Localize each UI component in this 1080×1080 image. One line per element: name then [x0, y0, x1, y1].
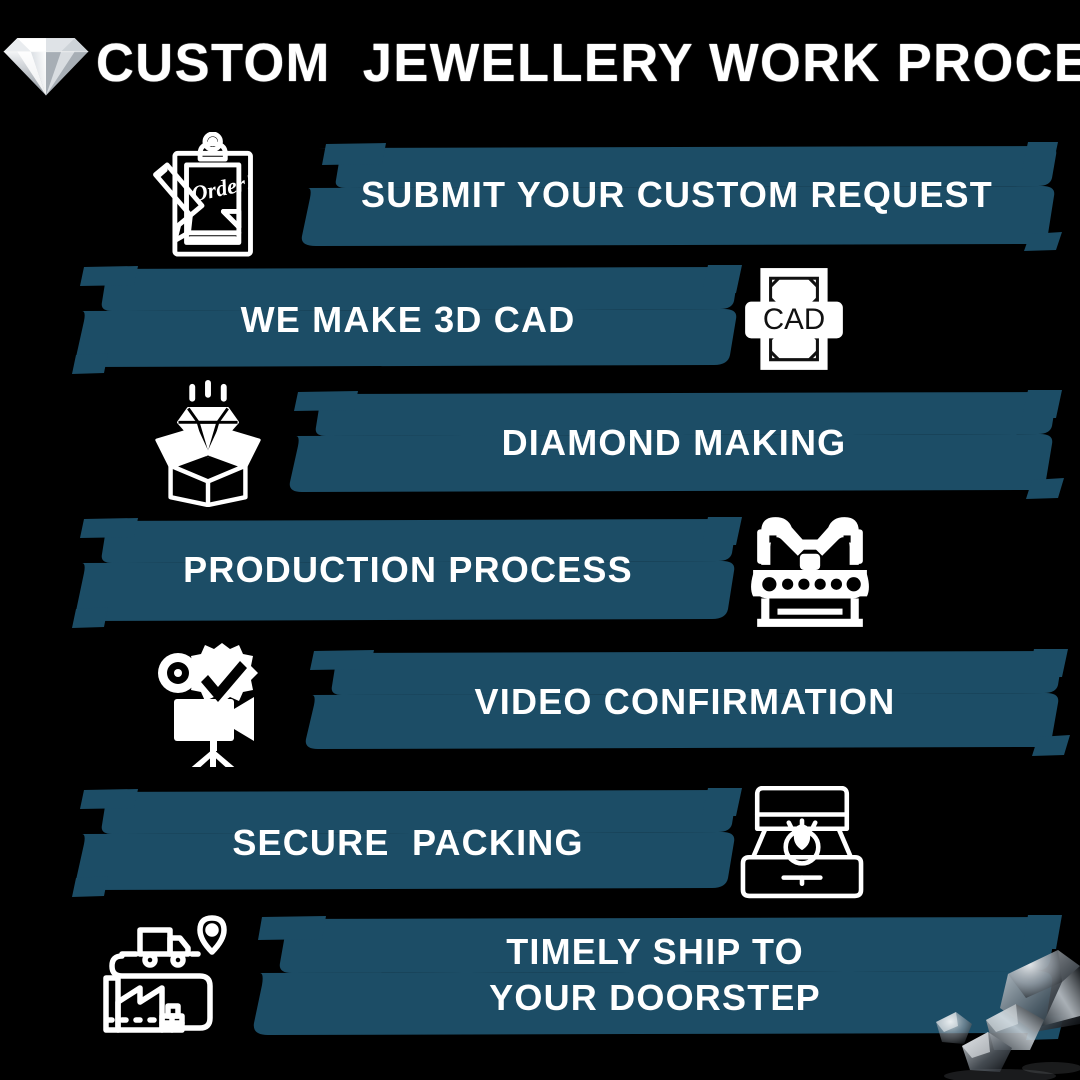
step-row-1: Order! SUBMIT YOUR CUSTOM REQUEST [0, 130, 1080, 260]
step-row-3: DIAMOND MAKING [0, 378, 1080, 508]
banner-4[interactable]: PRODUCTION PROCESS [68, 505, 748, 635]
clipboard-caption: Order! [189, 169, 256, 207]
clipboard-order-icon: Order! [128, 130, 278, 260]
step-row-7: TIMELY SHIP TO YOUR DOORSTEP [0, 905, 1080, 1045]
header: CUSTOM JEWELLERY WORK PROCESS [0, 18, 1080, 108]
banner-5[interactable]: VIDEO CONFIRMATION [296, 637, 1074, 767]
diamond-gem-icon [0, 29, 92, 97]
step-row-2: WE MAKE 3D CAD CAD [0, 255, 1080, 385]
cad-file-icon: CAD [724, 255, 864, 385]
banner-6[interactable]: SECURE PACKING [68, 778, 748, 908]
page-title: CUSTOM JEWELLERY WORK PROCESS [96, 36, 1080, 90]
step-row-6: SECURE PACKING [0, 778, 1080, 908]
step-row-4: PRODUCTION PROCESS [0, 505, 1080, 635]
video-camera-check-icon [140, 637, 290, 767]
ring-box-icon [734, 778, 869, 908]
infographic-canvas: CUSTOM JEWELLERY WORK PROCESS [0, 0, 1080, 1080]
step-row-5: VIDEO CONFIRMATION [0, 637, 1080, 767]
cad-caption: CAD [763, 303, 825, 336]
banner-1[interactable]: SUBMIT YOUR CUSTOM REQUEST [286, 130, 1068, 260]
banner-7[interactable]: TIMELY SHIP TO YOUR DOORSTEP [242, 905, 1068, 1045]
banner-2[interactable]: WE MAKE 3D CAD [68, 255, 748, 385]
factory-truck-delivery-icon [92, 905, 237, 1045]
conveyor-robot-arms-icon [742, 505, 877, 635]
diamond-in-box-icon [140, 378, 275, 508]
banner-3[interactable]: DIAMOND MAKING [280, 378, 1068, 508]
